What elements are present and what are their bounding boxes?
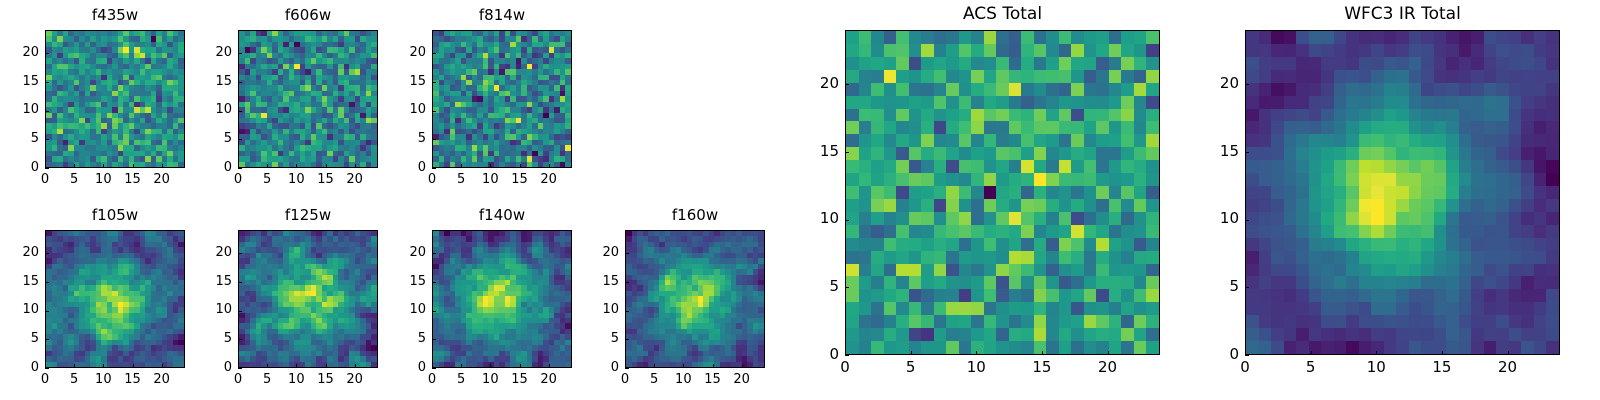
x-tick-mark <box>654 364 655 368</box>
y-tick-mark <box>432 311 436 312</box>
y-tick-label: 0 <box>799 347 839 362</box>
x-tick-label: 5 <box>632 373 676 386</box>
heatmap-grid <box>46 31 184 167</box>
heatmap-grid <box>433 31 571 167</box>
x-tick-mark <box>1311 351 1312 355</box>
x-tick-label: 15 <box>304 173 348 186</box>
x-tick-mark <box>490 164 491 168</box>
y-tick-mark <box>845 287 849 288</box>
x-tick-mark <box>549 164 550 168</box>
panel-f814w: f814w0055101015152020 <box>0 0 1600 400</box>
x-tick-mark <box>1108 351 1109 355</box>
panel-title-f140w: f140w <box>432 208 572 223</box>
x-tick-mark <box>326 364 327 368</box>
heatmap-f140w <box>432 230 572 368</box>
figure-canvas: f435w0055101015152020f606w00551010151520… <box>0 0 1600 400</box>
y-tick-mark <box>432 82 436 83</box>
heatmap-grid <box>239 231 377 367</box>
y-tick-label: 5 <box>0 332 39 345</box>
y-tick-mark <box>432 111 436 112</box>
y-tick-mark <box>45 368 49 369</box>
x-tick-mark <box>162 164 163 168</box>
x-tick-label: 15 <box>111 173 155 186</box>
y-tick-mark <box>845 355 849 356</box>
x-tick-label: 0 <box>410 173 454 186</box>
y-tick-mark <box>45 253 49 254</box>
x-tick-label: 20 <box>527 173 571 186</box>
y-tick-label: 5 <box>579 332 619 345</box>
y-tick-mark <box>45 139 49 140</box>
x-tick-label: 20 <box>720 373 764 386</box>
y-tick-label: 20 <box>1199 76 1239 91</box>
panel-f160w: f160w0055101015152020 <box>0 0 1600 400</box>
x-tick-label: 0 <box>23 373 67 386</box>
x-tick-label: 10 <box>468 173 512 186</box>
y-tick-label: 20 <box>386 246 426 259</box>
x-tick-mark <box>103 364 104 368</box>
y-tick-mark <box>238 253 242 254</box>
x-tick-label: 20 <box>333 173 377 186</box>
x-tick-mark <box>683 364 684 368</box>
y-tick-label: 10 <box>579 303 619 316</box>
y-tick-label: 15 <box>1199 144 1239 159</box>
x-tick-mark <box>326 164 327 168</box>
y-tick-mark <box>238 368 242 369</box>
panel-f606w: f606w0055101015152020 <box>0 0 1600 400</box>
x-tick-label: 5 <box>439 173 483 186</box>
x-tick-mark <box>1245 351 1246 355</box>
heatmap-f125w <box>238 230 378 368</box>
y-tick-label: 5 <box>192 132 232 145</box>
x-tick-label: 15 <box>1020 360 1064 375</box>
x-tick-mark <box>742 364 743 368</box>
x-tick-label: 0 <box>1223 360 1267 375</box>
y-tick-label: 5 <box>1199 279 1239 294</box>
panel-title-f125w: f125w <box>238 208 378 223</box>
panel-title-f160w: f160w <box>625 208 765 223</box>
y-tick-label: 5 <box>0 132 39 145</box>
x-tick-mark <box>162 364 163 368</box>
x-tick-mark <box>1042 351 1043 355</box>
x-tick-mark <box>74 364 75 368</box>
panel-wfc3_ir_total: WFC3 IR Total0055101015152020 <box>0 0 1600 400</box>
y-tick-mark <box>238 82 242 83</box>
y-tick-label: 20 <box>192 46 232 59</box>
y-tick-label: 10 <box>386 303 426 316</box>
y-tick-label: 5 <box>799 279 839 294</box>
x-tick-label: 15 <box>498 373 542 386</box>
y-tick-mark <box>238 282 242 283</box>
x-tick-label: 0 <box>216 173 260 186</box>
y-tick-mark <box>432 282 436 283</box>
y-tick-label: 20 <box>799 76 839 91</box>
x-tick-mark <box>103 164 104 168</box>
y-tick-mark <box>45 53 49 54</box>
y-tick-mark <box>625 253 629 254</box>
panel-acs_total: ACS Total0055101015152020 <box>0 0 1600 400</box>
x-tick-mark <box>432 364 433 368</box>
panel-title-f435w: f435w <box>45 8 185 23</box>
x-tick-mark <box>845 351 846 355</box>
y-tick-mark <box>45 311 49 312</box>
y-tick-mark <box>845 84 849 85</box>
x-tick-label: 5 <box>1289 360 1333 375</box>
heatmap-grid <box>433 231 571 367</box>
x-tick-label: 20 <box>140 373 184 386</box>
y-tick-label: 0 <box>1199 347 1239 362</box>
y-tick-mark <box>432 368 436 369</box>
x-tick-label: 20 <box>333 373 377 386</box>
y-tick-label: 0 <box>0 161 39 174</box>
y-tick-mark <box>432 139 436 140</box>
heatmap-f606w <box>238 30 378 168</box>
x-tick-mark <box>520 364 521 368</box>
y-tick-mark <box>1245 84 1249 85</box>
y-tick-label: 10 <box>0 103 39 116</box>
y-tick-label: 15 <box>579 275 619 288</box>
x-tick-label: 15 <box>111 373 155 386</box>
y-tick-label: 0 <box>386 161 426 174</box>
x-tick-mark <box>490 364 491 368</box>
x-tick-label: 20 <box>1486 360 1530 375</box>
x-tick-label: 10 <box>468 373 512 386</box>
x-tick-label: 20 <box>1086 360 1130 375</box>
x-tick-mark <box>238 364 239 368</box>
y-tick-mark <box>1245 220 1249 221</box>
x-tick-mark <box>296 164 297 168</box>
y-tick-mark <box>845 152 849 153</box>
y-tick-label: 10 <box>0 303 39 316</box>
y-tick-mark <box>238 168 242 169</box>
x-tick-label: 0 <box>410 373 454 386</box>
panel-f140w: f140w0055101015152020 <box>0 0 1600 400</box>
x-tick-mark <box>45 364 46 368</box>
x-tick-label: 5 <box>889 360 933 375</box>
y-tick-label: 0 <box>192 161 232 174</box>
y-tick-label: 15 <box>386 75 426 88</box>
heatmap-f814w <box>432 30 572 168</box>
x-tick-label: 0 <box>23 173 67 186</box>
y-tick-mark <box>238 339 242 340</box>
y-tick-label: 20 <box>386 46 426 59</box>
y-tick-mark <box>238 139 242 140</box>
x-tick-label: 10 <box>274 173 318 186</box>
y-tick-label: 5 <box>386 132 426 145</box>
y-tick-label: 0 <box>0 361 39 374</box>
y-tick-mark <box>45 282 49 283</box>
x-tick-mark <box>625 364 626 368</box>
y-tick-label: 15 <box>799 144 839 159</box>
x-tick-mark <box>1508 351 1509 355</box>
x-tick-label: 0 <box>603 373 647 386</box>
y-tick-label: 20 <box>192 246 232 259</box>
y-tick-label: 20 <box>0 246 39 259</box>
y-tick-mark <box>432 253 436 254</box>
y-tick-label: 0 <box>192 361 232 374</box>
y-tick-mark <box>238 111 242 112</box>
y-tick-mark <box>625 282 629 283</box>
x-tick-mark <box>267 164 268 168</box>
x-tick-mark <box>1442 351 1443 355</box>
x-tick-mark <box>296 364 297 368</box>
x-tick-label: 10 <box>81 373 125 386</box>
y-tick-label: 10 <box>386 103 426 116</box>
x-tick-mark <box>45 164 46 168</box>
x-tick-mark <box>133 164 134 168</box>
heatmap-acs_total <box>845 30 1160 355</box>
x-tick-mark <box>713 364 714 368</box>
y-tick-mark <box>45 168 49 169</box>
x-tick-mark <box>432 164 433 168</box>
y-tick-mark <box>238 311 242 312</box>
panel-title-acs_total: ACS Total <box>845 6 1160 23</box>
x-tick-label: 15 <box>498 173 542 186</box>
heatmap-grid <box>46 231 184 367</box>
y-tick-mark <box>625 368 629 369</box>
y-tick-label: 10 <box>192 303 232 316</box>
y-tick-mark <box>432 168 436 169</box>
panel-title-f814w: f814w <box>432 8 572 23</box>
x-tick-label: 0 <box>216 373 260 386</box>
x-tick-mark <box>74 164 75 168</box>
x-tick-label: 10 <box>661 373 705 386</box>
y-tick-label: 0 <box>579 361 619 374</box>
x-tick-mark <box>549 364 550 368</box>
x-tick-label: 5 <box>52 373 96 386</box>
y-tick-mark <box>1245 355 1249 356</box>
x-tick-mark <box>461 364 462 368</box>
panel-title-f606w: f606w <box>238 8 378 23</box>
y-tick-mark <box>45 82 49 83</box>
y-tick-label: 10 <box>192 103 232 116</box>
x-tick-mark <box>355 364 356 368</box>
x-tick-label: 20 <box>527 373 571 386</box>
x-tick-mark <box>1376 351 1377 355</box>
heatmap-wfc3_ir_total <box>1245 30 1560 355</box>
y-tick-mark <box>1245 287 1249 288</box>
y-tick-mark <box>625 339 629 340</box>
x-tick-label: 10 <box>81 173 125 186</box>
y-tick-label: 10 <box>799 211 839 226</box>
heatmap-f160w <box>625 230 765 368</box>
x-tick-label: 5 <box>245 373 289 386</box>
x-tick-label: 0 <box>823 360 867 375</box>
y-tick-label: 15 <box>192 75 232 88</box>
x-tick-label: 10 <box>274 373 318 386</box>
x-tick-label: 15 <box>304 373 348 386</box>
y-tick-label: 0 <box>386 361 426 374</box>
x-tick-label: 15 <box>691 373 735 386</box>
x-tick-mark <box>238 164 239 168</box>
heatmap-grid <box>1246 31 1559 354</box>
x-tick-mark <box>911 351 912 355</box>
y-tick-mark <box>45 111 49 112</box>
y-tick-mark <box>238 53 242 54</box>
y-tick-label: 5 <box>386 332 426 345</box>
heatmap-grid <box>846 31 1159 354</box>
x-tick-mark <box>461 164 462 168</box>
y-tick-label: 15 <box>192 275 232 288</box>
x-tick-label: 20 <box>140 173 184 186</box>
y-tick-label: 20 <box>0 46 39 59</box>
panel-f435w: f435w0055101015152020 <box>0 0 1600 400</box>
y-tick-label: 20 <box>579 246 619 259</box>
x-tick-mark <box>267 364 268 368</box>
panel-title-f105w: f105w <box>45 208 185 223</box>
panel-f125w: f125w0055101015152020 <box>0 0 1600 400</box>
x-tick-label: 5 <box>52 173 96 186</box>
x-tick-mark <box>355 164 356 168</box>
y-tick-label: 5 <box>192 332 232 345</box>
y-tick-label: 15 <box>386 275 426 288</box>
x-tick-label: 5 <box>245 173 289 186</box>
x-tick-mark <box>520 164 521 168</box>
y-tick-mark <box>1245 152 1249 153</box>
x-tick-label: 10 <box>1354 360 1398 375</box>
y-tick-label: 15 <box>0 75 39 88</box>
heatmap-f435w <box>45 30 185 168</box>
heatmap-grid <box>626 231 764 367</box>
panel-f105w: f105w0055101015152020 <box>0 0 1600 400</box>
y-tick-label: 10 <box>1199 211 1239 226</box>
y-tick-mark <box>625 311 629 312</box>
heatmap-grid <box>239 31 377 167</box>
x-tick-mark <box>133 364 134 368</box>
y-tick-mark <box>432 339 436 340</box>
y-tick-mark <box>845 220 849 221</box>
y-tick-mark <box>45 339 49 340</box>
x-tick-label: 15 <box>1420 360 1464 375</box>
y-tick-mark <box>432 53 436 54</box>
x-tick-label: 10 <box>954 360 998 375</box>
heatmap-f105w <box>45 230 185 368</box>
x-tick-label: 5 <box>439 373 483 386</box>
x-tick-mark <box>976 351 977 355</box>
panel-title-wfc3_ir_total: WFC3 IR Total <box>1245 6 1560 23</box>
y-tick-label: 15 <box>0 275 39 288</box>
